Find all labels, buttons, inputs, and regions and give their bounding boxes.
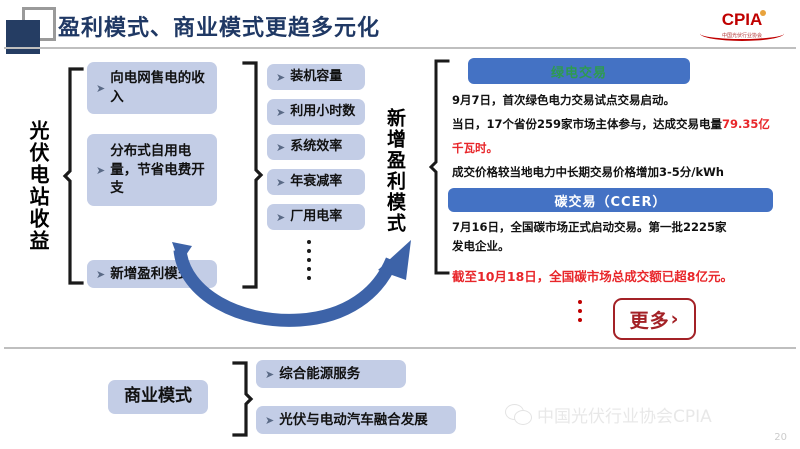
divider-top <box>4 47 796 49</box>
green-power-line-2: 千瓦时。 <box>452 140 498 157</box>
bottom-item-1[interactable]: ➤ 光伏与电动汽车融合发展 <box>256 406 456 434</box>
green-power-line-3: 成交价格较当地电力中长期交易价格增加3-5分/kWh <box>452 164 724 181</box>
bullet-arrow-icon: ➤ <box>276 142 285 153</box>
bottom-section-label: 商业模式 <box>108 385 208 408</box>
middle-item-0[interactable]: ➤ 装机容量 <box>267 64 365 90</box>
left-item-1-label: 分布式自用电量，节省电费开支 <box>110 142 217 198</box>
middle-item-2-label: 系统效率 <box>290 138 365 156</box>
left-item-1[interactable]: ➤ 分布式自用电量，节省电费开支 <box>87 134 217 206</box>
left-brace <box>62 66 84 286</box>
wechat-watermark: 中国光伏行业协会CPIA <box>505 398 785 430</box>
carbon-trading-header: 碳交易（CCER） <box>448 188 773 212</box>
middle-item-0-label: 装机容量 <box>290 68 365 86</box>
title-decoration <box>6 7 52 47</box>
bullet-arrow-icon: ➤ <box>276 177 285 188</box>
chevron-right-icon: › <box>671 308 680 330</box>
cpia-logo: CPIA 中国光伏行业协会 <box>696 4 788 44</box>
bullet-arrow-icon: ➤ <box>265 369 274 380</box>
bullet-arrow-icon: ➤ <box>96 269 105 280</box>
carbon-trading-line-1: 发电企业。 <box>452 238 510 255</box>
middle-section-vertical-label: 新增盈利模式 <box>382 108 409 234</box>
page-number: 20 <box>774 432 787 443</box>
cpia-logo-subtitle: 中国光伏行业协会 <box>696 33 788 39</box>
green-power-line-1-highlight: 79.35亿 <box>722 117 770 131</box>
bottom-item-0[interactable]: ➤ 综合能源服务 <box>256 360 406 388</box>
bullet-arrow-icon: ➤ <box>276 212 285 223</box>
carbon-trading-highlight: 截至10月18日，全国碳市场总成交额已超8亿元。 <box>452 268 733 286</box>
more-button-label: 更多 <box>630 306 670 333</box>
middle-item-3-label: 年衰减率 <box>290 173 365 191</box>
bottom-section-label-box: 商业模式 <box>108 380 208 414</box>
middle-item-4-label: 厂用电率 <box>290 208 365 226</box>
bullet-arrow-icon: ➤ <box>96 83 105 94</box>
bullet-arrow-icon: ➤ <box>276 107 285 118</box>
middle-item-3[interactable]: ➤ 年衰减率 <box>267 169 365 195</box>
carbon-trading-line-0: 7月16日，全国碳市场正式启动交易。第一批2225家 <box>452 219 727 236</box>
green-power-header-label: 绿电交易 <box>551 62 607 81</box>
green-power-header: 绿电交易 <box>468 58 690 84</box>
bottom-item-1-label: 光伏与电动汽车融合发展 <box>279 411 456 430</box>
wechat-icon <box>505 404 531 425</box>
left-section-vertical-label: 光伏电站收益 <box>24 120 53 252</box>
bullet-arrow-icon: ➤ <box>276 72 285 83</box>
middle-item-1[interactable]: ➤ 利用小时数 <box>267 99 365 125</box>
green-power-line-0: 9月7日，首次绿色电力交易试点交易启动。 <box>452 92 675 109</box>
right-continuation-dots <box>578 300 582 322</box>
more-button[interactable]: 更多 › <box>613 298 696 340</box>
left-item-0-label: 向电网售电的收入 <box>110 69 217 106</box>
bullet-arrow-icon: ➤ <box>96 165 105 176</box>
left-item-0[interactable]: ➤ 向电网售电的收入 <box>87 62 217 114</box>
watermark-text: 中国光伏行业协会CPIA <box>537 402 712 427</box>
green-power-line-1-text: 当日，17个省份259家市场主体参与，达成交易电量 <box>452 117 722 131</box>
bottom-brace <box>232 360 254 438</box>
middle-item-4[interactable]: ➤ 厂用电率 <box>267 204 365 230</box>
bottom-item-0-label: 综合能源服务 <box>279 365 406 384</box>
right-brace <box>428 58 450 276</box>
middle-item-1-label: 利用小时数 <box>290 103 365 121</box>
page-title: 盈利模式、商业模式更趋多元化 <box>58 10 380 42</box>
flow-arrow-icon <box>170 232 420 344</box>
green-power-line-1: 当日，17个省份259家市场主体参与，达成交易电量79.35亿 <box>452 116 770 133</box>
divider-middle <box>4 347 796 349</box>
carbon-trading-header-label: 碳交易（CCER） <box>555 191 667 210</box>
middle-item-2[interactable]: ➤ 系统效率 <box>267 134 365 160</box>
slide-canvas: 盈利模式、商业模式更趋多元化 CPIA 中国光伏行业协会 光伏电站收益 ➤ 向电… <box>0 0 800 449</box>
bullet-arrow-icon: ➤ <box>265 415 274 426</box>
